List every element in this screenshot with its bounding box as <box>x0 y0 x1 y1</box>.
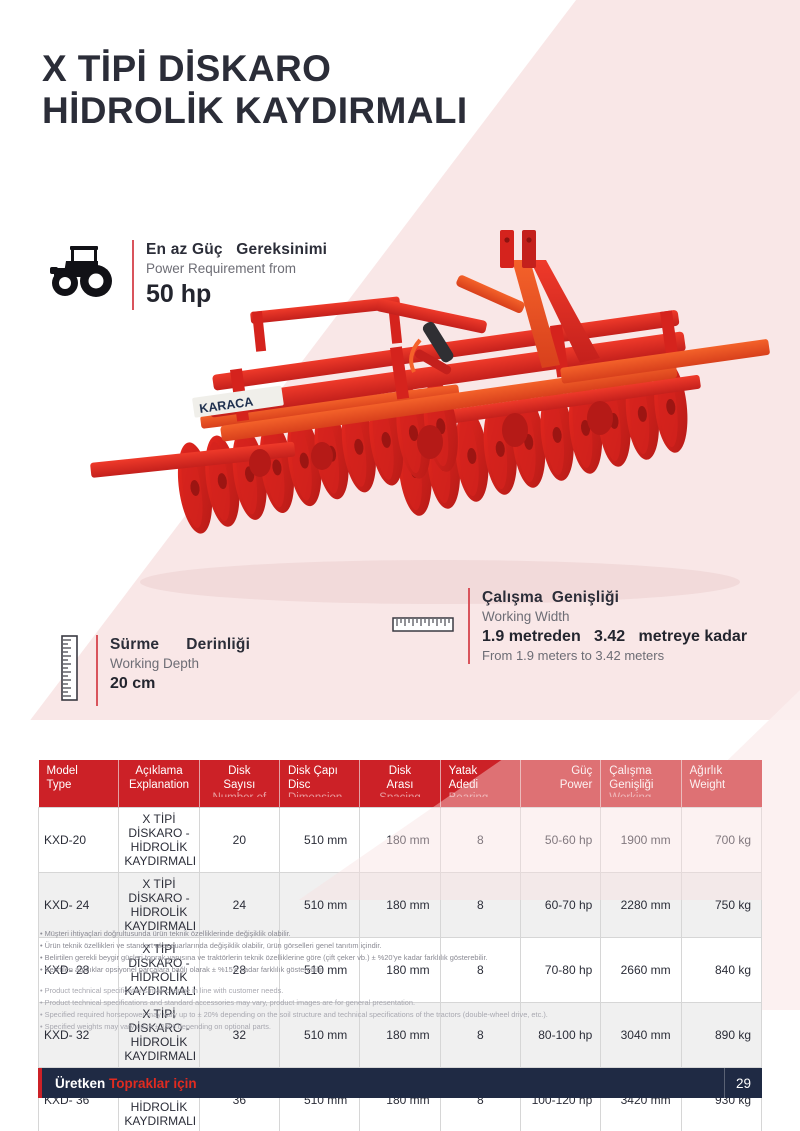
note-line: • Belirtilen ağırlıklar opsiyonel parçal… <box>40 964 488 976</box>
depth-label-en: Working Depth <box>110 656 199 671</box>
title-line-2: HİDROLİK KAYDIRMALI <box>42 90 468 132</box>
footnotes-english: • Product technical specifications may c… <box>40 985 548 1033</box>
ruler-vertical-icon <box>60 635 80 706</box>
header-weight: Ağırlık Weight <box>681 760 761 808</box>
spec-accent-bar <box>96 635 98 706</box>
depth-label-tr: Sürme Derinliği <box>110 636 250 653</box>
header-bearing-count: Yatak Adedi Bearing <box>440 760 520 808</box>
width-value: 1.9 metreden 3.42 metreye kadar <box>482 626 747 647</box>
footer-slogan: Üretken Topraklar için <box>55 1076 197 1091</box>
spec-accent-bar <box>132 240 134 310</box>
power-value: 50 hp <box>146 279 327 310</box>
spec-accent-bar <box>468 588 470 664</box>
header-power: Güç Power <box>520 760 600 808</box>
spec-power-requirement: En az Güç Gereksinimi Power Requirement … <box>48 240 327 310</box>
header-disc-spacing: Disk Arası Spacing <box>360 760 440 808</box>
cell-working-width: 3040 mm <box>601 1003 681 1068</box>
spec-width-text: Çalışma Genişliği Working Width 1.9 metr… <box>482 588 747 664</box>
cell-working-width: 1900 mm <box>601 808 681 873</box>
cell-working-width: 2660 mm <box>601 938 681 1003</box>
header-disc-count: Disk Sayısı Number of <box>199 760 279 808</box>
page-footer: Üretken Topraklar için 29 <box>38 1068 762 1098</box>
tractor-icon <box>48 240 118 303</box>
header-disc-diameter: Disk Çapı Disc Dimension <box>279 760 359 808</box>
spec-working-width: Çalışma Genişliği Working Width 1.9 metr… <box>392 588 747 664</box>
header-working-width: Çalışma Genişliği Working <box>601 760 681 808</box>
note-line: • Specified required horsepower may vary… <box>40 1009 548 1021</box>
power-label-tr: En az Güç Gereksinimi <box>146 241 327 258</box>
cell-power: 60-70 hp <box>520 873 600 938</box>
depth-value: 20 cm <box>110 673 250 694</box>
table-row: KXD-20 X TİPİ DİSKARO - HİDROLİK KAYDIRM… <box>39 808 762 873</box>
power-label-en: Power Requirement from <box>146 261 296 276</box>
page-number: 29 <box>724 1068 762 1098</box>
note-line: • Product technical specifications may c… <box>40 985 548 997</box>
cell-explanation: X TİPİ DİSKARO - HİDROLİK KAYDIRMALI <box>119 808 199 873</box>
footnotes-turkish: • Müşteri ihtiyaçlari doğrultusunda ürün… <box>40 928 488 976</box>
cell-working-width: 2280 mm <box>601 873 681 938</box>
catalog-page: X TİPİ DİSKARO HİDROLİK KAYDIRMALI <box>0 0 800 1131</box>
width-label-tr: Çalışma Genişliği <box>482 589 619 606</box>
width-value-en: From 1.9 meters to 3.42 meters <box>482 647 747 664</box>
width-label-en: Working Width <box>482 609 570 624</box>
footer-slogan-white: Üretken <box>55 1076 105 1091</box>
cell-disc-spacing: 180 mm <box>360 808 440 873</box>
note-line: • Ürün teknik özellikleri ve standart ak… <box>40 940 488 952</box>
table-header-row: Model Type Açıklama Explanation Disk Say… <box>39 760 762 808</box>
footer-slogan-red: Topraklar için <box>109 1076 197 1091</box>
note-line: • Product technical specifications and s… <box>40 997 548 1009</box>
spec-depth-text: Sürme Derinliği Working Depth 20 cm <box>110 635 250 694</box>
table-header: Model Type Açıklama Explanation Disk Say… <box>39 760 762 808</box>
cell-weight: 840 kg <box>681 938 761 1003</box>
cell-bearing-count: 8 <box>440 808 520 873</box>
footer-accent-bar <box>38 1068 42 1098</box>
note-line: • Specified weights may vary up to ± 15%… <box>40 1021 548 1033</box>
cell-power: 50-60 hp <box>520 808 600 873</box>
header-model: Model Type <box>39 760 119 808</box>
spec-power-text: En az Güç Gereksinimi Power Requirement … <box>146 240 327 310</box>
spec-working-depth: Sürme Derinliği Working Depth 20 cm <box>60 635 250 706</box>
page-title: X TİPİ DİSKARO HİDROLİK KAYDIRMALI <box>42 48 468 132</box>
title-line-1: X TİPİ DİSKARO <box>42 48 468 90</box>
note-line: • Müşteri ihtiyaçlari doğrultusunda ürün… <box>40 928 488 940</box>
note-line: • Belirtilen gerekli beygir güçleri topr… <box>40 952 488 964</box>
cell-disc-count: 20 <box>199 808 279 873</box>
header-explanation: Açıklama Explanation <box>119 760 199 808</box>
cell-weight: 700 kg <box>681 808 761 873</box>
cell-disc-diameter: 510 mm <box>279 808 359 873</box>
ruler-horizontal-icon <box>392 614 454 639</box>
cell-weight: 750 kg <box>681 873 761 938</box>
cell-model: KXD-20 <box>39 808 119 873</box>
cell-weight: 890 kg <box>681 1003 761 1068</box>
